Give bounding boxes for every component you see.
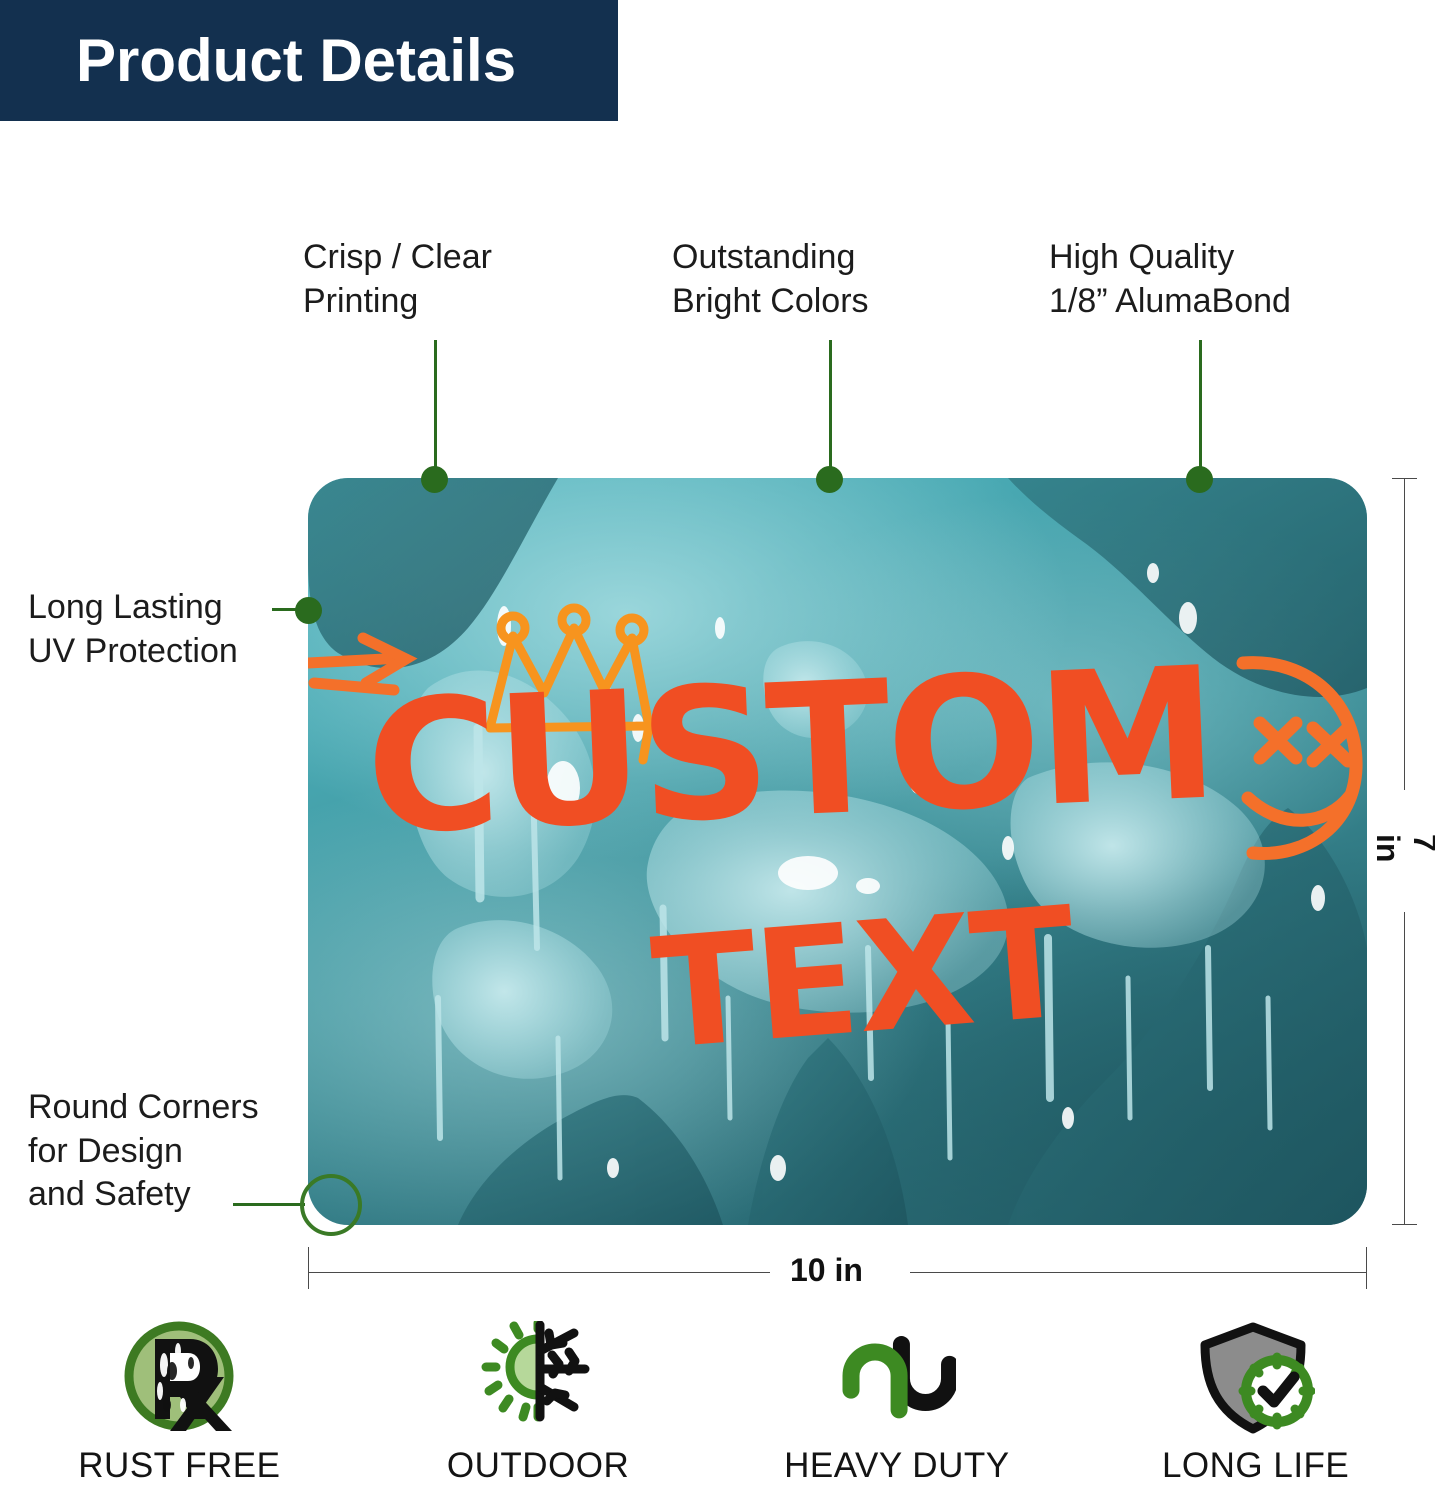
sign-line-1: CUSTOM [363,638,1320,860]
callout-round-corners: Round Corners for Design and Safety [28,1086,259,1217]
round-corner-highlight-ring [300,1174,362,1236]
sign-text-layer: CUSTOM TEXT [308,478,1367,1225]
leader-dot-alumabond [1186,466,1213,493]
feature-label-heavy-duty: HEAVY DUTY [784,1446,1009,1486]
leader-dot-bright [816,466,843,493]
leader-line-bright [829,340,832,482]
dimension-tick-width-left [308,1247,309,1289]
dimension-tick-width-right [1366,1247,1367,1289]
dimension-tick-height-top [1392,478,1417,479]
feature-rust-free: RUST FREE [14,1320,344,1486]
feature-outdoor: OUTDOOR [373,1320,703,1486]
dimension-tick-height-bottom [1392,1224,1417,1225]
rust-free-icon [120,1320,238,1440]
callout-crisp-clear-printing: Crisp / Clear Printing [303,236,492,323]
sign-line-2: TEXT [648,887,1079,1072]
dimension-label-width: 10 in [790,1252,863,1289]
feature-icon-row: RUST FREE [0,1320,1435,1500]
feature-label-outdoor: OUTDOOR [447,1446,629,1486]
header-banner: Product Details [0,0,618,121]
leader-dot-uv [295,597,322,624]
leader-line-alumabond [1199,340,1202,482]
product-details-infographic: Product Details Crisp / Clear Printing O… [0,0,1435,1500]
feature-heavy-duty: HEAVY DUTY [732,1320,1062,1486]
clock-badge [1243,1357,1311,1425]
leader-dot-crisp [421,466,448,493]
feature-label-rust-free: RUST FREE [78,1446,280,1486]
leader-line-crisp [434,340,437,482]
callout-high-quality-alumabond: High Quality 1/8” AlumaBond [1049,236,1291,323]
shield-clock-icon [1197,1320,1315,1440]
dimension-label-height: 7 in [1347,834,1435,868]
callout-outstanding-bright-colors: Outstanding Bright Colors [672,236,869,323]
callout-long-lasting-uv-protection: Long Lasting UV Protection [28,586,238,673]
leader-line-round-corners [233,1203,305,1206]
sun-snowflake-icon [479,1320,597,1440]
chain-link-icon [838,1320,956,1440]
page-title: Product Details [0,31,516,91]
feature-long-life: LONG LIFE [1091,1320,1421,1486]
sign-artwork: CUSTOM TEXT [308,478,1367,1225]
feature-label-long-life: LONG LIFE [1162,1446,1349,1486]
sign-preview: CUSTOM TEXT [308,478,1367,1225]
